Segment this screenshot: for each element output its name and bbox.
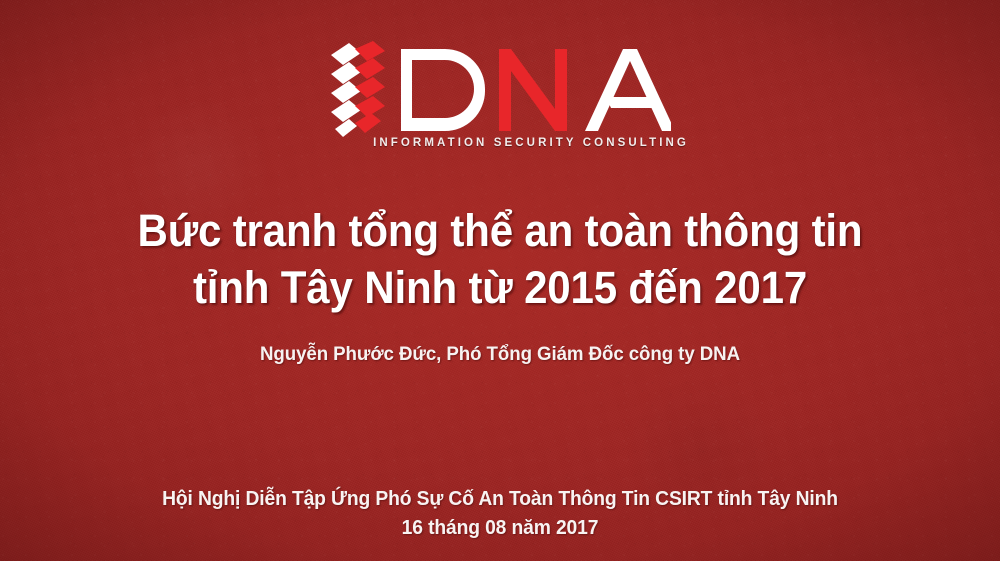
slide-title-line-1: Bức tranh tổng thể an toàn thông tin (33, 202, 968, 259)
footer-date: 16 tháng 08 năm 2017 (18, 514, 983, 543)
wordmark-letter-a (585, 49, 671, 131)
wordmark-letter-d (401, 49, 485, 131)
slide-footer: Hội Nghị Diễn Tập Ứng Phó Sự Cố An Toàn … (18, 485, 983, 543)
dna-logo: INFORMATION SECURITY CONSULTING (0, 44, 1000, 149)
slide-author: Nguyễn Phước Đức, Phó Tổng Giám Đốc công… (20, 343, 980, 366)
footer-event-name: Hội Nghị Diễn Tập Ứng Phó Sự Cố An Toàn … (18, 485, 983, 514)
wordmark-letter-n (499, 49, 567, 131)
slide-title-line-2: tỉnh Tây Ninh từ 2015 đến 2017 (33, 259, 968, 316)
dna-wordmark (399, 47, 671, 133)
slide-title: Bức tranh tổng thể an toàn thông tin tỉn… (33, 202, 968, 316)
logo-row (329, 44, 671, 136)
dna-helix-mark-icon (329, 41, 387, 139)
logo-tagline: INFORMATION SECURITY CONSULTING (311, 137, 689, 149)
presentation-title-slide: INFORMATION SECURITY CONSULTING Bức tran… (0, 0, 1000, 561)
